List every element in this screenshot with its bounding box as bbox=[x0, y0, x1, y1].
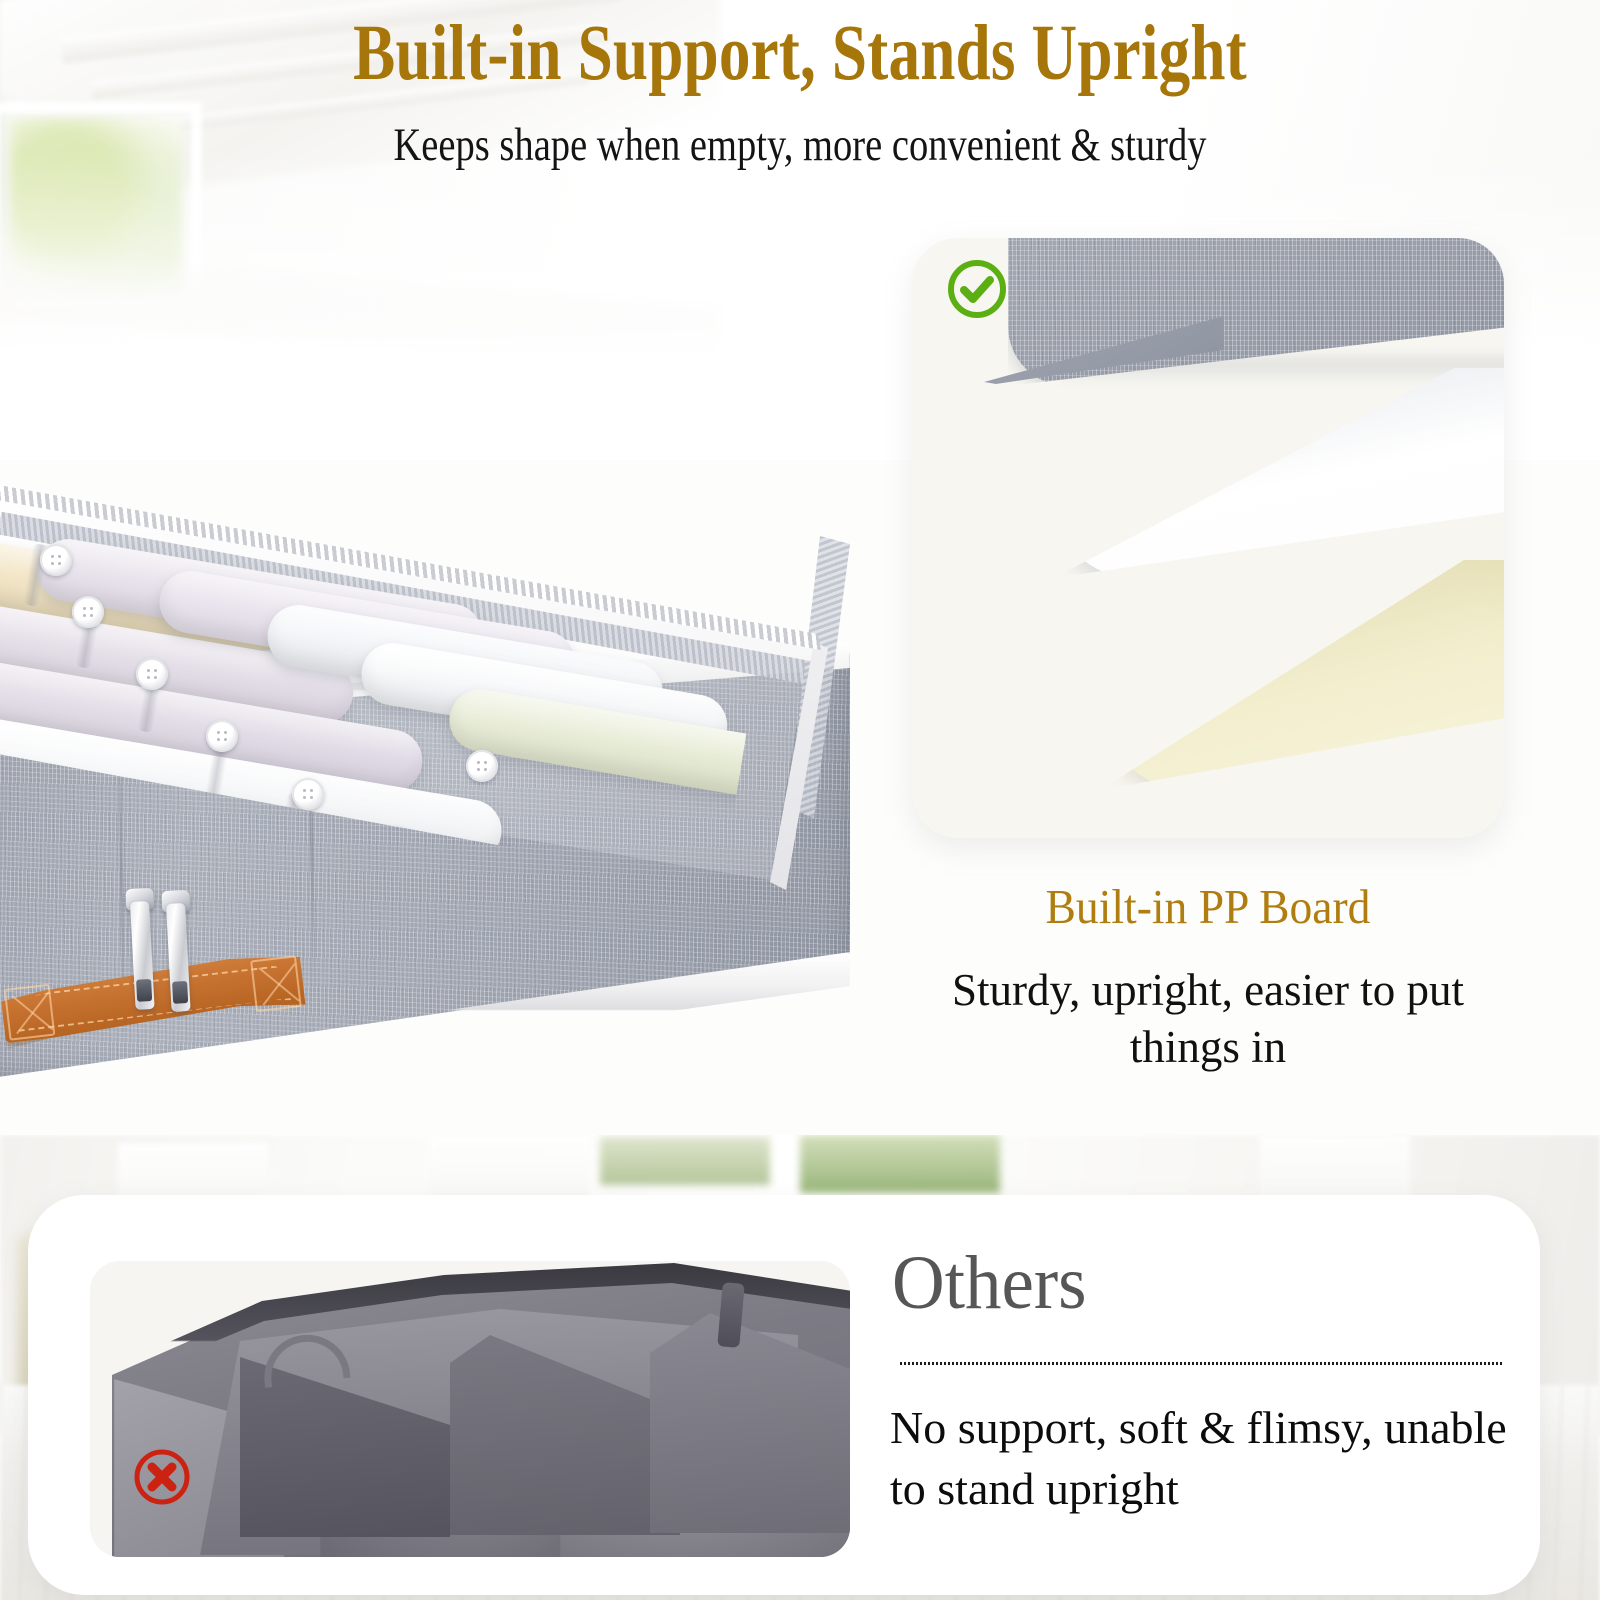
green-check-icon bbox=[944, 256, 1010, 322]
white-pp-board-layer bbox=[1054, 368, 1504, 578]
others-product-photo bbox=[90, 1261, 850, 1557]
cream-backing-layer bbox=[1100, 560, 1504, 790]
shirt-button bbox=[206, 720, 238, 752]
shirt-button bbox=[40, 544, 72, 576]
pp-board-description: Sturdy, upright, easier to put things in bbox=[902, 962, 1514, 1075]
hero-product-photo bbox=[0, 236, 880, 1066]
top-section: Built-in Support, Stands Upright Keeps s… bbox=[0, 0, 1600, 1135]
shirt-button bbox=[72, 596, 104, 628]
red-x-icon bbox=[130, 1445, 194, 1509]
pp-board-card bbox=[912, 238, 1504, 838]
window-greenery bbox=[600, 1137, 770, 1185]
shirt-button bbox=[466, 750, 498, 782]
window-greenery bbox=[800, 1135, 1000, 1193]
others-divider bbox=[900, 1362, 1504, 1365]
handle-rivet-left-icon bbox=[4, 984, 56, 1041]
infographic-page: Built-in Support, Stands Upright Keeps s… bbox=[0, 0, 1600, 1600]
page-title: Built-in Support, Stands Upright bbox=[160, 14, 1440, 93]
pp-board-title: Built-in PP Board bbox=[933, 882, 1484, 931]
others-title: Others bbox=[892, 1245, 1487, 1321]
shirt-button bbox=[136, 658, 168, 690]
others-description: No support, soft & flimsy, unable to sta… bbox=[890, 1398, 1520, 1519]
shirt-button bbox=[292, 778, 324, 810]
others-section bbox=[0, 1135, 1600, 1600]
page-subtitle: Keeps shape when empty, more convenient … bbox=[144, 122, 1456, 169]
flimsy-organizer-illustration bbox=[90, 1261, 850, 1557]
handle-rivet-right-icon bbox=[250, 955, 302, 1012]
